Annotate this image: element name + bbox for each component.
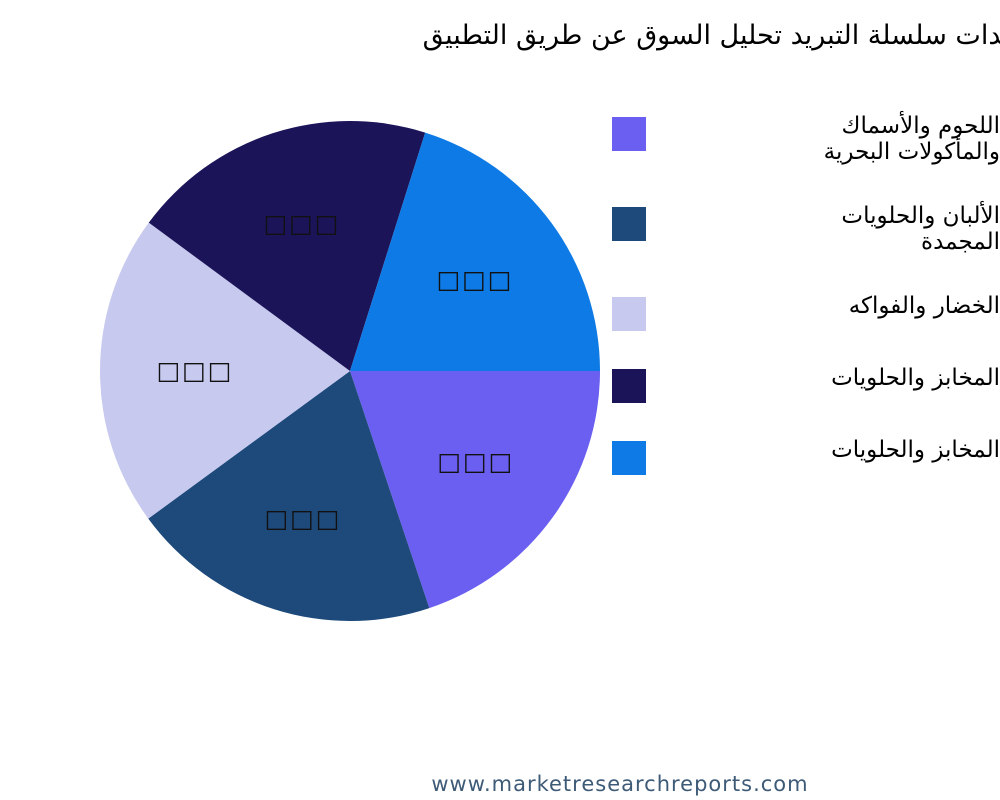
pie-chart-svg: □□□□□□□□□□□□□□□ [100,121,600,621]
legend-item[interactable]: المخابز والحلويات [612,437,1000,493]
legend-item[interactable]: اللحوم والأسماك والمأكولات البحرية [612,113,1000,187]
pie-slice-label: □□□ [437,447,514,476]
pie-slice-label: □□□ [157,356,234,385]
legend-item-label: المخابز والحلويات [660,437,1000,463]
legend-item-label: الخضار والفواكه [660,293,1000,319]
legend-swatch-dairy-frozen-desserts [612,207,646,241]
legend-item[interactable]: المخابز والحلويات [612,365,1000,421]
legend-item-label: اللحوم والأسماك والمأكولات البحرية [660,113,1000,165]
legend-item[interactable]: الخضار والفواكه [612,293,1000,349]
watermark-url: www.marketresearchreports.com [120,772,1000,796]
pie-slice-label: □□□ [264,209,341,238]
page-title: معدات سلسلة التبريد تحليل السوق عن طريق … [30,16,1000,56]
legend: اللحوم والأسماك والمأكولات البحريةالألبا… [612,113,1000,509]
legend-item-label: الألبان والحلويات المجمدة [660,203,1000,255]
legend-swatch-vegetables-fruits [612,297,646,331]
pie-slice-label: □□□ [265,504,342,533]
pie-chart: □□□□□□□□□□□□□□□ [100,121,600,621]
legend-item-label: المخابز والحلويات [660,365,1000,391]
pie-slice-label: □□□ [437,265,514,294]
legend-swatch-bakery-confectionery-1 [612,369,646,403]
legend-item[interactable]: الألبان والحلويات المجمدة [612,203,1000,277]
legend-swatch-meat-fish-seafood [612,117,646,151]
legend-swatch-bakery-confectionery-2 [612,441,646,475]
